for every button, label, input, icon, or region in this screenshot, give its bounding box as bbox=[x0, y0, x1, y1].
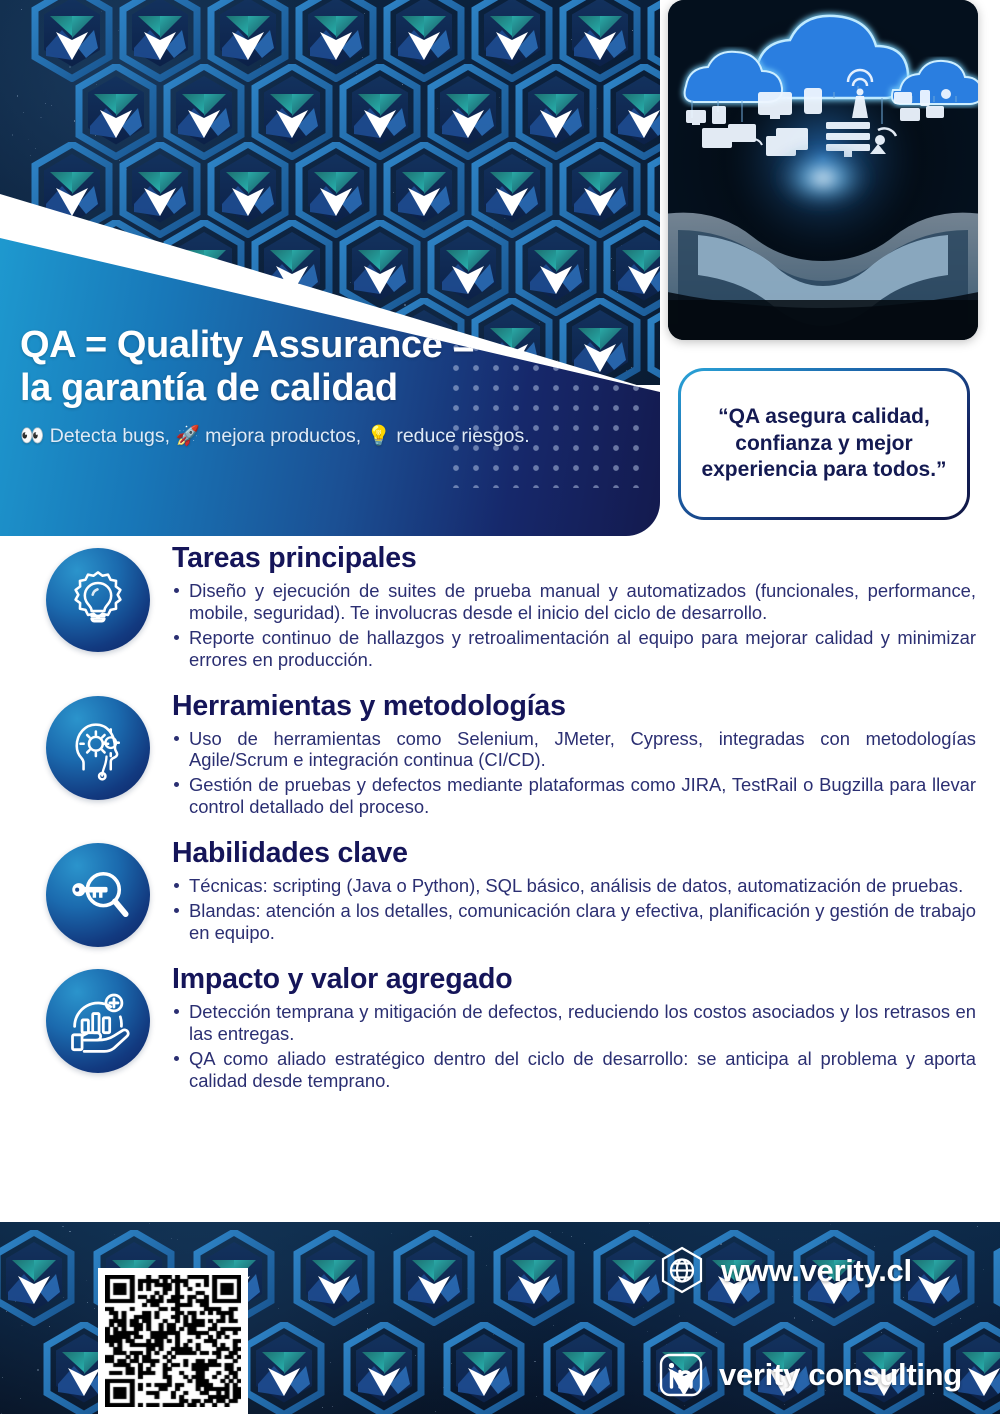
key-magnifier-icon bbox=[46, 843, 150, 947]
page-subtitle: 👀 Detecta bugs, 🚀 mejora productos, 💡 re… bbox=[20, 424, 640, 448]
linkedin-label: verity consulting bbox=[719, 1357, 962, 1393]
list-item: Técnicas: scripting (Java o Python), SQL… bbox=[172, 875, 976, 897]
section-impacto-valor-agregado: Impacto y valor agregado Detección tempr… bbox=[0, 961, 1000, 1095]
quote-text: “QA asegura calidad, confianza y mejor e… bbox=[681, 404, 967, 483]
linkedin-link[interactable]: verity consulting bbox=[656, 1350, 962, 1400]
list-item: Blandas: atención a los detalles, comuni… bbox=[172, 900, 976, 944]
website-label: www.verity.cl bbox=[721, 1253, 912, 1289]
qr-code[interactable] bbox=[98, 1268, 248, 1414]
list-item: Gestión de pruebas y defectos mediante p… bbox=[172, 774, 976, 818]
section-title: Tareas principales bbox=[172, 542, 976, 575]
section-title: Herramientas y metodologías bbox=[172, 690, 976, 723]
section-bullets: Diseño y ejecución de suites de prueba m… bbox=[172, 580, 976, 671]
section-title: Habilidades clave bbox=[172, 837, 976, 870]
section-herramientas-metodologias: Herramientas y metodologías Uso de herra… bbox=[0, 688, 1000, 822]
section-bullets: Detección temprana y mitigación de defec… bbox=[172, 1001, 976, 1092]
section-bullets: Uso de herramientas como Selenium, JMete… bbox=[172, 728, 976, 819]
content-sections: Tareas principales Diseño y ejecución de… bbox=[0, 540, 1000, 1095]
list-item: Diseño y ejecución de suites de prueba m… bbox=[172, 580, 976, 624]
gear-lightbulb-icon bbox=[46, 548, 150, 652]
quote-box: “QA asegura calidad, confianza y mejor e… bbox=[678, 368, 970, 520]
list-item: Reporte continuo de hallazgos y retroali… bbox=[172, 627, 976, 671]
list-item: Uso de herramientas como Selenium, JMete… bbox=[172, 728, 976, 772]
hand-chart-plus-icon bbox=[46, 969, 150, 1073]
page-title-line2: la garantía de calidad bbox=[20, 367, 398, 409]
website-link[interactable]: www.verity.cl bbox=[656, 1245, 912, 1297]
list-item: QA como aliado estratégico dentro del ci… bbox=[172, 1048, 976, 1092]
head-gears-icon bbox=[46, 696, 150, 800]
list-item: Detección temprana y mitigación de defec… bbox=[172, 1001, 976, 1045]
section-title: Impacto y valor agregado bbox=[172, 963, 976, 996]
section-habilidades-clave: Habilidades clave Técnicas: scripting (J… bbox=[0, 835, 1000, 947]
section-bullets: Técnicas: scripting (Java o Python), SQL… bbox=[172, 875, 976, 944]
cloud-computing-image bbox=[668, 0, 978, 340]
section-tareas-principales: Tareas principales Diseño y ejecución de… bbox=[0, 540, 1000, 674]
linkedin-icon bbox=[656, 1350, 706, 1400]
globe-hexagon-icon bbox=[656, 1245, 708, 1297]
